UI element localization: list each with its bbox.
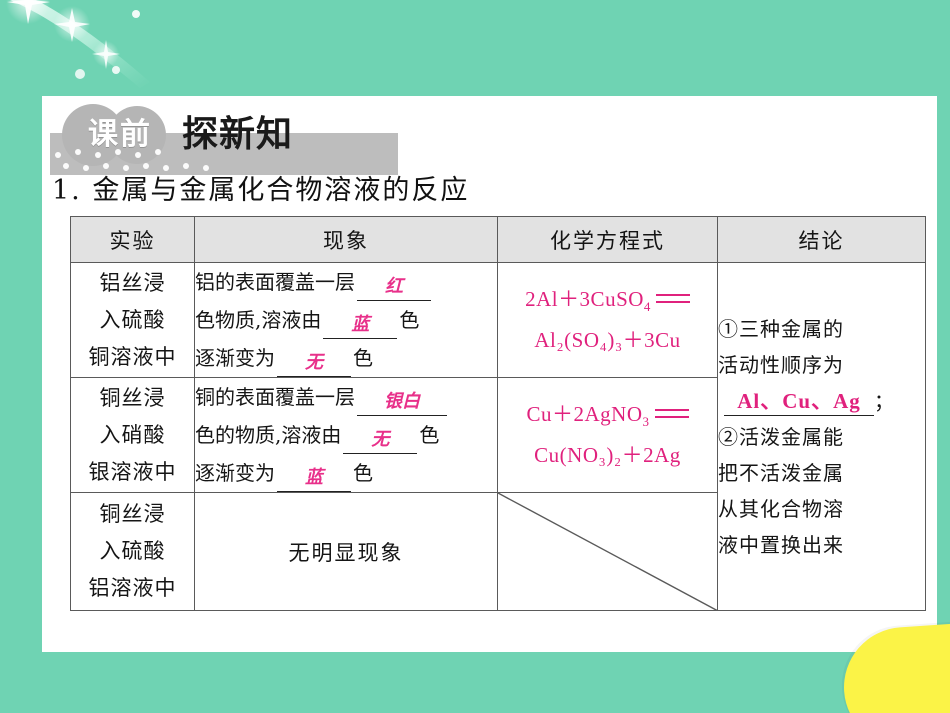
experiment-line: 铝溶液中 bbox=[71, 570, 194, 607]
answer-blank-color-2a: 银白 bbox=[357, 389, 447, 416]
column-header-conclusion: 结论 bbox=[718, 217, 926, 263]
conclusion-semicolon: ； bbox=[874, 389, 895, 413]
equation-line-left: Cu＋2AgNO3 bbox=[498, 398, 717, 438]
phenomenon-text: 逐渐变为 bbox=[195, 346, 275, 370]
experiment-line: 铜溶液中 bbox=[71, 339, 194, 376]
conclusion-line: ①三种金属的 bbox=[718, 311, 925, 347]
phenomenon-text: 色的物质,溶液由 bbox=[195, 423, 341, 447]
conclusion-line: 从其化合物溶 bbox=[718, 491, 925, 527]
conclusion-line: 液中置换出来 bbox=[718, 527, 925, 563]
answer-metal-order: Al、Cu、Ag bbox=[724, 387, 874, 416]
cell-experiment-3: 铜丝浸 入硫酸 铝溶液中 bbox=[71, 493, 195, 611]
equation-line-right: Cu(NO₃)₂＋2Ag bbox=[498, 439, 717, 472]
equation-reactants: Cu＋2AgNO bbox=[526, 402, 642, 426]
phenomenon-text: 色 bbox=[353, 461, 373, 485]
answer-blank-color-1c: 无 bbox=[277, 350, 351, 377]
table-row: 铝丝浸 入硫酸 铜溶液中 铝的表面覆盖一层红 色物质,溶液由蓝色 逐渐变为无色 … bbox=[71, 263, 926, 378]
column-header-experiment: 实验 bbox=[71, 217, 195, 263]
answer-blank-color-1b: 蓝 bbox=[323, 312, 397, 339]
experiment-line: 银溶液中 bbox=[71, 454, 194, 491]
cell-equation-3-empty bbox=[498, 493, 718, 611]
subsection-heading: 1. 金属与金属化合物溶液的反应 bbox=[52, 168, 469, 207]
equation-line-right: Al₂(SO₄)₃＋3Cu bbox=[498, 324, 717, 357]
column-header-phenomenon: 现象 bbox=[195, 217, 498, 263]
phenomenon-text: 逐渐变为 bbox=[195, 461, 275, 485]
conclusion-line: 把不活泼金属 bbox=[718, 455, 925, 491]
cell-phenomenon-3: 无明显现象 bbox=[195, 493, 498, 611]
conclusion-line: ②活泼金属能 bbox=[718, 419, 925, 455]
cell-equation-2: Cu＋2AgNO3 Cu(NO₃)₂＋2Ag bbox=[498, 378, 718, 493]
equals-sign-icon bbox=[656, 294, 690, 303]
table-header-row: 实验 现象 化学方程式 结论 bbox=[71, 217, 926, 263]
experiment-line: 铜丝浸 bbox=[71, 380, 194, 417]
experiment-line: 入硫酸 bbox=[71, 302, 194, 339]
phenomenon-text: 铝的表面覆盖一层 bbox=[195, 270, 355, 294]
cell-conclusion: ①三种金属的 活动性顺序为 Al、Cu、Ag； ②活泼金属能 把不活泼金属 从其… bbox=[718, 263, 926, 611]
experiment-line: 入硝酸 bbox=[71, 417, 194, 454]
conclusion-answer-line: Al、Cu、Ag； bbox=[718, 383, 925, 419]
conclusion-line: 活动性顺序为 bbox=[718, 347, 925, 383]
experiment-line: 铜丝浸 bbox=[71, 496, 194, 533]
cell-experiment-1: 铝丝浸 入硫酸 铜溶液中 bbox=[71, 263, 195, 378]
equation-subscript: 3 bbox=[643, 415, 650, 430]
equals-sign-icon bbox=[655, 409, 689, 418]
reaction-table: 实验 现象 化学方程式 结论 铝丝浸 入硫酸 铜溶液中 铝的表面覆盖一层红 色物… bbox=[70, 216, 926, 611]
phenomenon-text: 色物质,溶液由 bbox=[195, 308, 321, 332]
cell-phenomenon-1: 铝的表面覆盖一层红 色物质,溶液由蓝色 逐渐变为无色 bbox=[195, 263, 498, 378]
title-badge-text: 课前 bbox=[68, 118, 172, 152]
title-main-text: 探新知 bbox=[182, 114, 293, 156]
phenomenon-text: 色 bbox=[353, 346, 373, 370]
cell-experiment-2: 铜丝浸 入硝酸 银溶液中 bbox=[71, 378, 195, 493]
answer-blank-color-2c: 蓝 bbox=[277, 465, 351, 492]
equation-subscript: 4 bbox=[644, 300, 651, 315]
equation-line-left: 2Al＋3CuSO4 bbox=[498, 283, 717, 323]
diagonal-strike-icon bbox=[498, 493, 717, 610]
equation-reactants: 2Al＋3CuSO bbox=[525, 287, 644, 311]
answer-blank-color-1a: 红 bbox=[357, 274, 431, 301]
phenomenon-text: 色 bbox=[399, 308, 419, 332]
cell-equation-1: 2Al＋3CuSO4 Al₂(SO₄)₃＋3Cu bbox=[498, 263, 718, 378]
phenomenon-text: 铜的表面覆盖一层 bbox=[195, 385, 355, 409]
answer-blank-color-2b: 无 bbox=[343, 427, 417, 454]
cell-phenomenon-2: 铜的表面覆盖一层银白 色的物质,溶液由无色 逐渐变为蓝色 bbox=[195, 378, 498, 493]
phenomenon-text: 色 bbox=[419, 423, 439, 447]
experiment-line: 入硫酸 bbox=[71, 533, 194, 570]
column-header-equation: 化学方程式 bbox=[498, 217, 718, 263]
experiment-line: 铝丝浸 bbox=[71, 265, 194, 302]
